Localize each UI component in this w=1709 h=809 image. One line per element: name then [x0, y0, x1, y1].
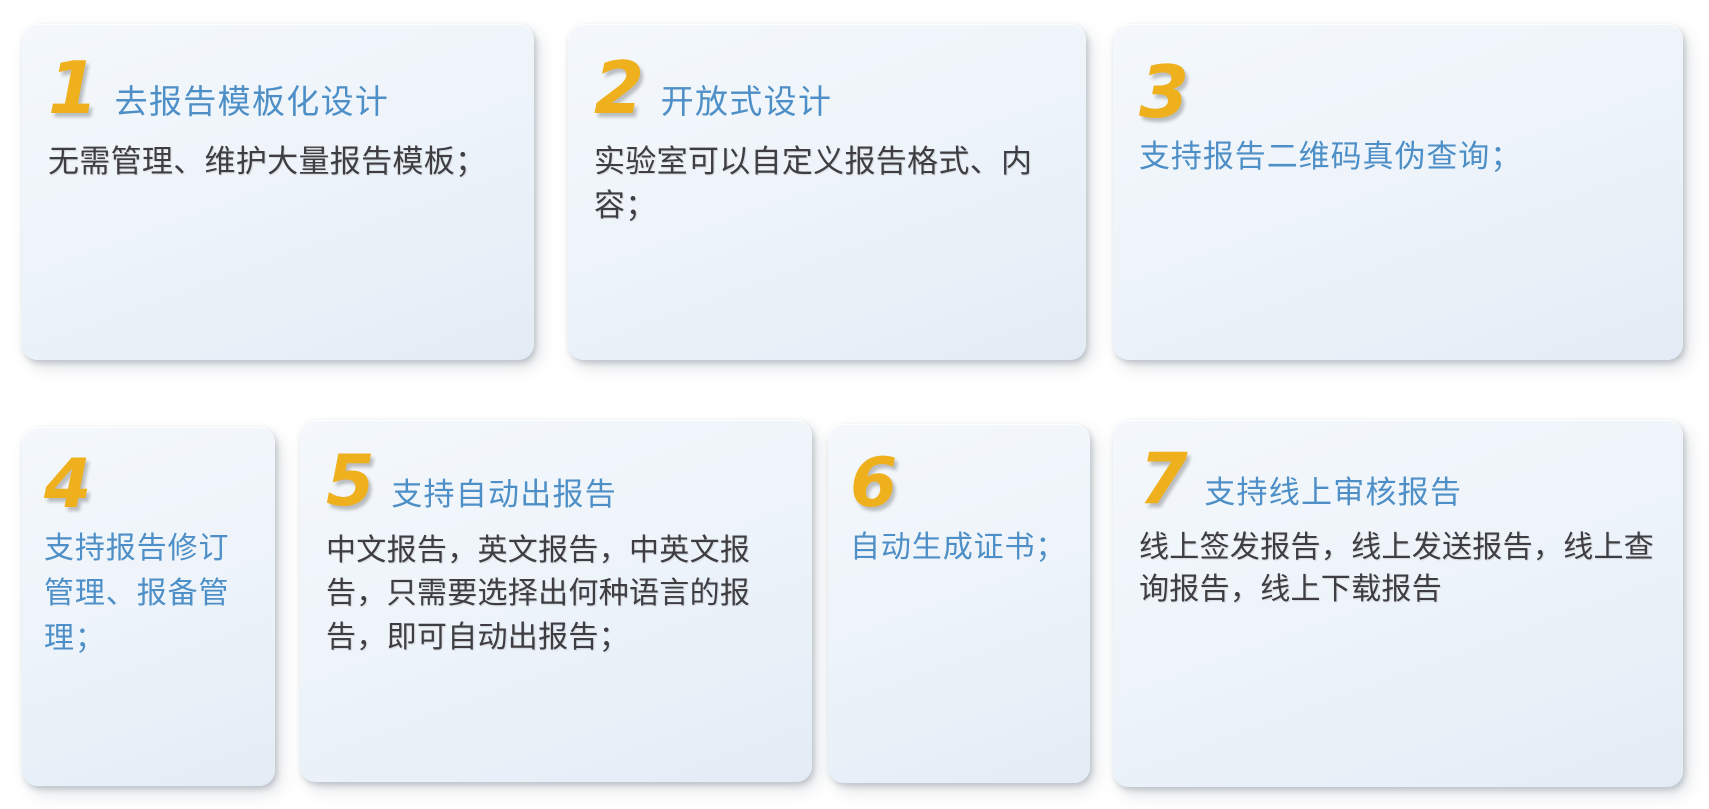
feature-card-5[interactable]: 5 支持自动出报告 中文报告，英文报告，中英文报告，只需要选择出何种语言的报告，… — [300, 420, 812, 782]
feature-cards-board: 1 去报告模板化设计 无需管理、维护大量报告模板； 2 开放式设计 实验室可以自… — [0, 0, 1709, 809]
feature-card-5-number: 5 — [326, 448, 373, 515]
feature-card-7-header: 7 支持线上审核报告 — [1139, 446, 1663, 513]
feature-card-6[interactable]: 6 自动生成证书； — [828, 424, 1090, 783]
feature-card-3-header: 3 — [1139, 58, 1657, 126]
feature-card-7-title: 支持线上审核报告 — [1204, 476, 1462, 512]
feature-card-2-title: 开放式设计 — [661, 83, 833, 121]
feature-card-7-body: 线上签发报告，线上发送报告，线上查询报告，线上下载报告 — [1139, 527, 1663, 611]
feature-card-4-content: 4 支持报告修订管理、报备管理； — [22, 427, 275, 786]
feature-card-6-content: 6 自动生成证书； — [828, 424, 1090, 783]
feature-card-1-title: 去报告模板化设计 — [115, 83, 390, 121]
feature-card-5-header: 5 支持自动出报告 — [326, 448, 792, 515]
feature-card-4-header: 4 — [44, 453, 255, 518]
feature-card-2[interactable]: 2 开放式设计 实验室可以自定义报告格式、内容； — [568, 24, 1086, 360]
feature-card-2-number: 2 — [594, 54, 643, 122]
feature-card-6-number: 6 — [850, 444, 896, 523]
feature-card-3[interactable]: 3 支持报告二维码真伪查询； — [1113, 24, 1683, 360]
feature-card-4[interactable]: 4 支持报告修订管理、报备管理； — [22, 427, 275, 786]
feature-card-5-body: 中文报告，英文报告，中英文报告，只需要选择出何种语言的报告，即可自动出报告； — [326, 529, 792, 660]
feature-card-7[interactable]: 7 支持线上审核报告 线上签发报告，线上发送报告，线上查询报告，线上下载报告 — [1113, 420, 1683, 787]
feature-card-1-number: 1 — [48, 54, 97, 122]
feature-card-7-content: 7 支持线上审核报告 线上签发报告，线上发送报告，线上查询报告，线上下载报告 — [1113, 420, 1683, 787]
feature-card-7-number: 7 — [1139, 446, 1186, 513]
feature-card-3-content: 3 支持报告二维码真伪查询； — [1113, 24, 1683, 360]
feature-card-2-content: 2 开放式设计 实验室可以自定义报告格式、内容； — [568, 24, 1086, 360]
feature-card-2-body: 实验室可以自定义报告格式、内容； — [594, 140, 1060, 228]
feature-card-6-body: 自动生成证书； — [850, 525, 1072, 570]
feature-card-2-header: 2 开放式设计 — [594, 54, 1060, 122]
feature-card-5-title: 支持自动出报告 — [391, 478, 617, 514]
feature-card-1-content: 1 去报告模板化设计 无需管理、维护大量报告模板； — [22, 24, 534, 360]
feature-card-4-body: 支持报告修订管理、报备管理； — [44, 526, 255, 661]
feature-card-5-content: 5 支持自动出报告 中文报告，英文报告，中英文报告，只需要选择出何种语言的报告，… — [300, 420, 812, 782]
feature-card-6-header: 6 — [850, 452, 1072, 517]
feature-card-1-header: 1 去报告模板化设计 — [48, 54, 508, 122]
feature-card-4-number: 4 — [44, 445, 90, 524]
feature-card-3-body: 支持报告二维码真伪查询； — [1139, 134, 1657, 181]
feature-card-1-body: 无需管理、维护大量报告模板； — [48, 140, 508, 184]
feature-card-1[interactable]: 1 去报告模板化设计 无需管理、维护大量报告模板； — [22, 24, 534, 360]
feature-card-3-number: 3 — [1139, 50, 1188, 134]
